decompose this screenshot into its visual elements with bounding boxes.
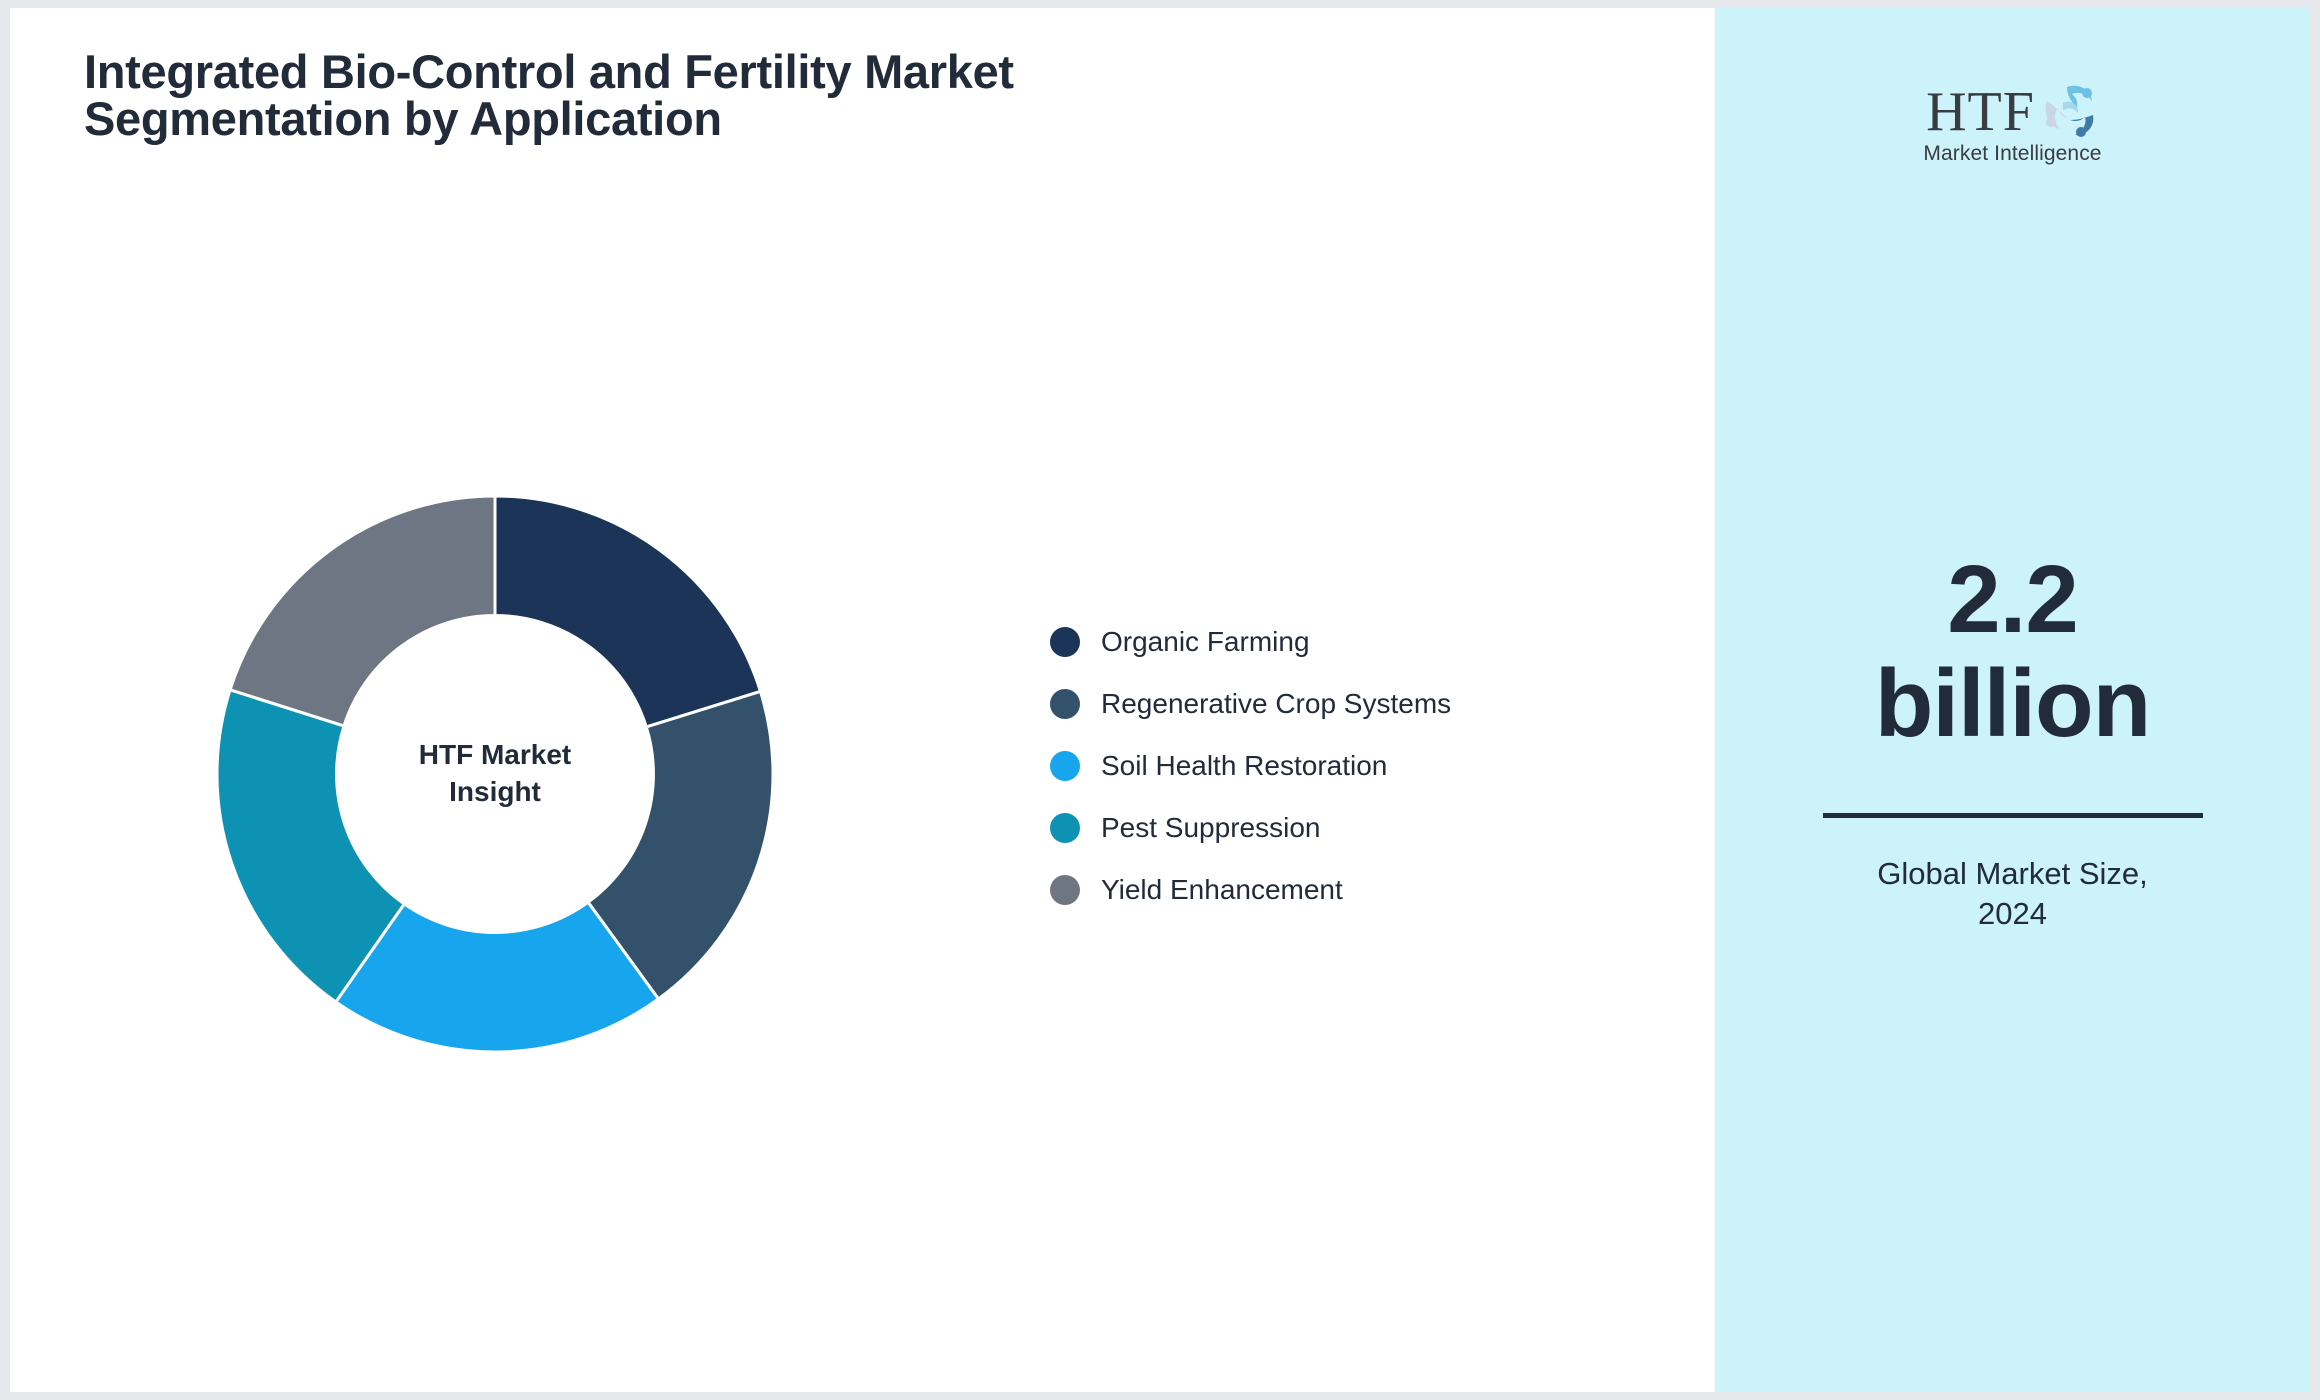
legend-item-label: Organic Farming (1101, 626, 1310, 658)
infographic-card: Integrated Bio-Control and Fertility Mar… (10, 8, 2310, 1392)
page-title: Integrated Bio-Control and Fertility Mar… (84, 48, 1084, 142)
stat-value-number: 2.2 (1793, 548, 2233, 652)
stat-value: 2.2 billion (1793, 548, 2233, 755)
legend-swatch-icon (1050, 875, 1080, 905)
logo-wordmark-row: HTF (1888, 74, 2138, 140)
legend-item-label: Pest Suppression (1101, 812, 1320, 844)
chart-panel: Integrated Bio-Control and Fertility Mar… (10, 8, 1715, 1392)
logo-wordmark: HTF (1926, 84, 2035, 140)
donut-slice[interactable] (230, 496, 495, 726)
legend-item[interactable]: Soil Health Restoration (1050, 746, 1451, 785)
htf-logo: HTF Market Intelligence (1888, 74, 2138, 179)
legend-swatch-icon (1050, 689, 1080, 719)
legend-item-label: Soil Health Restoration (1101, 750, 1387, 782)
donut-chart: HTF Market Insight (205, 484, 785, 1064)
legend-item[interactable]: Yield Enhancement (1050, 870, 1451, 909)
legend-swatch-icon (1050, 813, 1080, 843)
logo-tagline: Market Intelligence (1888, 142, 2138, 166)
stat-block: 2.2 billion Global Market Size, 2024 (1793, 548, 2233, 934)
legend-item[interactable]: Pest Suppression (1050, 808, 1451, 847)
stat-panel: HTF Market Intelligence 2.2 (1715, 8, 2310, 1392)
legend-swatch-icon (1050, 751, 1080, 781)
legend-item-label: Yield Enhancement (1101, 874, 1343, 906)
dolphins-icon (2037, 81, 2099, 144)
legend-swatch-icon (1050, 627, 1080, 657)
donut-slice[interactable] (495, 496, 760, 727)
donut-chart-svg (205, 484, 785, 1064)
stat-caption-line1: Global Market Size, (1793, 854, 2233, 894)
stat-divider (1823, 813, 2203, 818)
legend-item-label: Regenerative Crop Systems (1101, 688, 1451, 720)
legend-item[interactable]: Regenerative Crop Systems (1050, 684, 1451, 723)
stat-value-unit: billion (1793, 652, 2233, 756)
legend-item[interactable]: Organic Farming (1050, 622, 1451, 661)
stat-caption-line2: 2024 (1793, 894, 2233, 934)
chart-legend: Organic FarmingRegenerative Crop Systems… (1050, 622, 1451, 909)
stat-caption: Global Market Size, 2024 (1793, 854, 2233, 933)
